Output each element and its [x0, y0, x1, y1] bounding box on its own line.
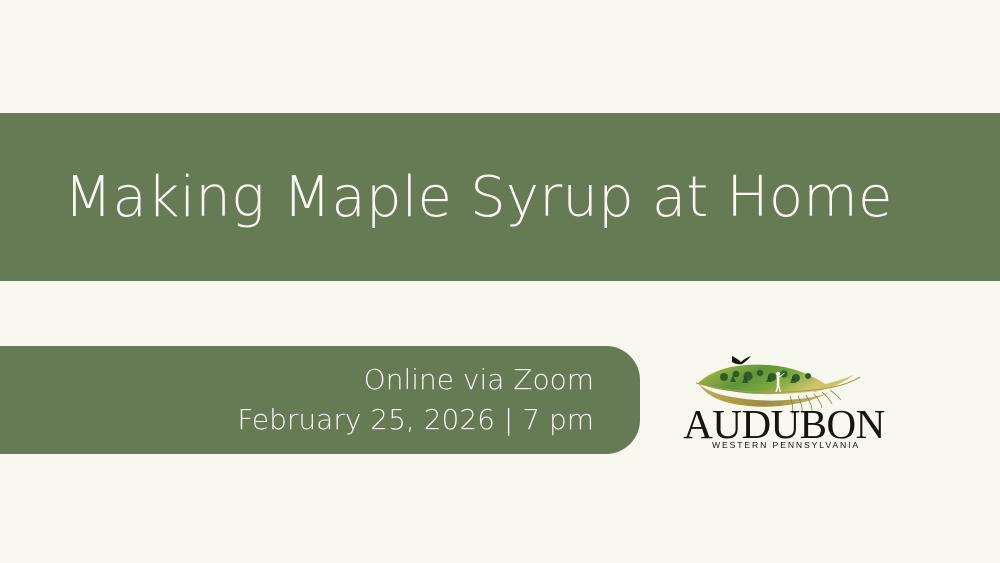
event-details-pill: Online via Zoom February 25, 2026 | 7 pm [0, 346, 640, 454]
event-datetime: February 25, 2026 | 7 pm [237, 400, 594, 440]
event-location: Online via Zoom [364, 360, 594, 400]
flying-bird-silhouette [732, 356, 751, 364]
page-title: Making Maple Syrup at Home [0, 113, 1000, 281]
svg-text:WESTERN PENNSYLVANIA: WESTERN PENNSYLVANIA [712, 440, 860, 450]
audubon-logo: AUDUBON WESTERN PENNSYLVANIA [680, 344, 892, 456]
program-type-ribbon: Online Program [0, 0, 389, 132]
title-band: Making Maple Syrup at Home [0, 113, 1000, 281]
event-promo-poster: Making Maple Syrup at Home Online Progra… [0, 0, 1000, 563]
audubon-subtitle: WESTERN PENNSYLVANIA [712, 440, 860, 450]
